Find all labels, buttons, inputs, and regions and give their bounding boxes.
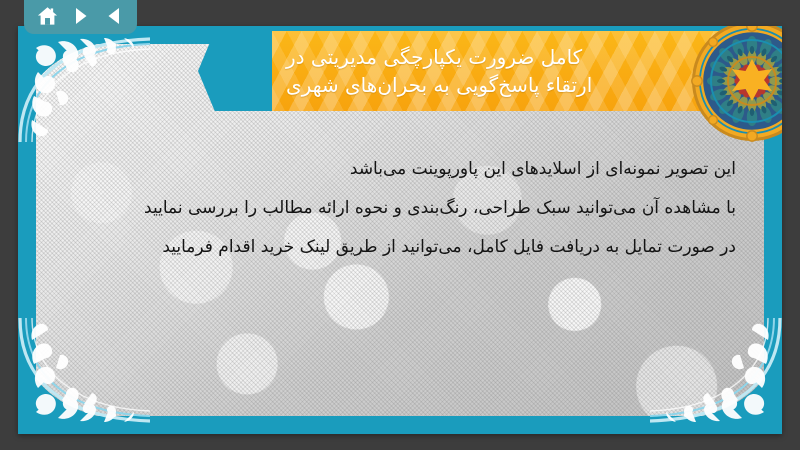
slide-viewer: کامل ضرورت یکپارچگی مدیریتی در ارتقاء پا…	[0, 0, 800, 450]
navigation-toolbar	[24, 0, 137, 34]
body-line-2: با مشاهده آن می‌توانید سبک طراحی، رنگ‌بن…	[58, 189, 736, 228]
home-icon	[36, 5, 59, 28]
slide-title-line-1: کامل ضرورت یکپارچگی مدیریتی در	[286, 43, 582, 71]
banner-body: کامل ضرورت یکپارچگی مدیریتی در ارتقاء پا…	[272, 31, 782, 111]
home-button[interactable]	[34, 3, 62, 29]
next-slide-button[interactable]	[67, 3, 95, 29]
previous-slide-button[interactable]	[100, 3, 128, 29]
triangle-right-icon	[70, 5, 92, 27]
slide-title-line-2: ارتقاء پاسخ‌گویی به بحران‌های شهری	[286, 71, 592, 99]
slide-canvas: کامل ضرورت یکپارچگی مدیریتی در ارتقاء پا…	[18, 26, 782, 434]
slide-body-text: این تصویر نمونه‌ای از اسلایدهای این پاور…	[58, 150, 736, 267]
body-line-3: در صورت تمایل به دریافت فایل کامل، می‌تو…	[58, 228, 736, 267]
body-line-1: این تصویر نمونه‌ای از اسلایدهای این پاور…	[58, 150, 736, 189]
triangle-left-icon	[103, 5, 125, 27]
slide-title-banner: کامل ضرورت یکپارچگی مدیریتی در ارتقاء پا…	[272, 31, 782, 111]
